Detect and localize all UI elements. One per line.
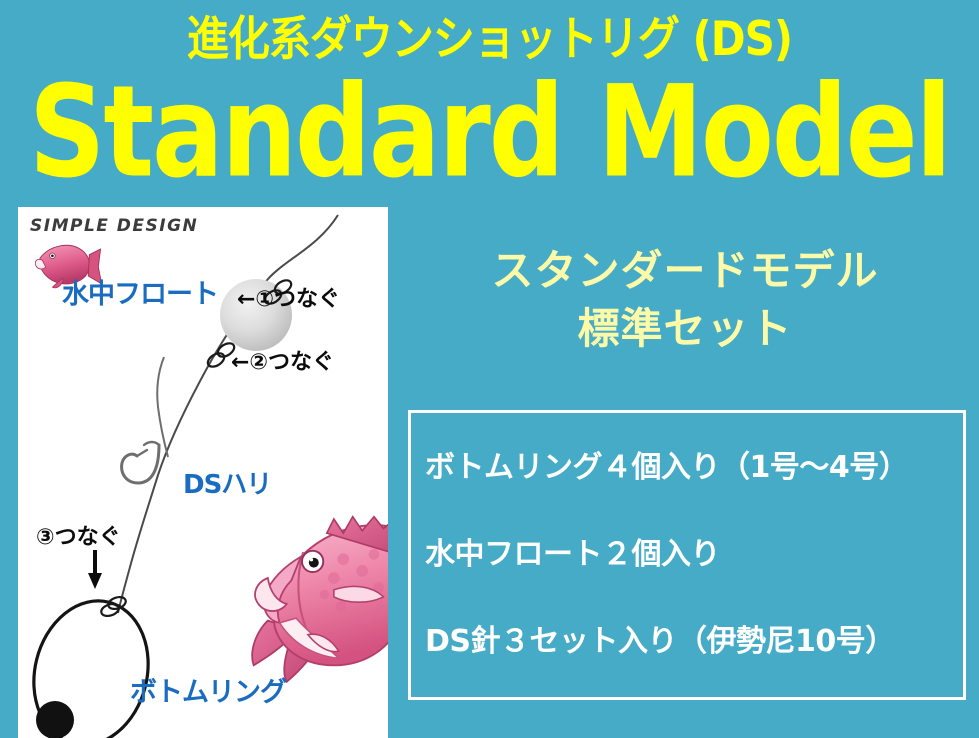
header-title: Standard Model	[0, 68, 979, 195]
right-column: スタンダードモデル 標準セット ボトムリング４個入り（1号～4号） 水中フロート…	[400, 207, 979, 738]
step-1-callout: ←①つなぐ	[237, 289, 340, 311]
step-2-callout: ←②つなぐ	[231, 352, 334, 374]
model-name-block: スタンダードモデル 標準セット	[400, 242, 970, 358]
model-name-line-1: スタンダードモデル	[400, 242, 970, 300]
step3-arrow-icon	[88, 550, 102, 589]
connector-ring-3	[100, 595, 128, 618]
spec-item-bottom-ring: ボトムリング４個入り（1号～4号）	[425, 453, 963, 483]
ds-hook-icon	[122, 442, 159, 483]
rig-diagram-panel: SIMPLE DESIGN 水中フロート DSハリ ボトムリング ←①つなぐ ←…	[18, 207, 388, 738]
spec-list: ボトムリング４個入り（1号～4号） 水中フロート２個入り DS針３セット入り（伊…	[411, 413, 963, 697]
sea-bream-illustration	[252, 517, 388, 682]
step-3-callout: ③つなぐ	[36, 527, 121, 549]
simple-design-badge: SIMPLE DESIGN	[30, 216, 198, 236]
label-bottom-ring: ボトムリング	[130, 679, 286, 706]
spec-item-underwater-float: 水中フロート２個入り	[425, 540, 963, 570]
poster-header: 進化系ダウンショットリグ (DS) Standard Model	[0, 0, 979, 195]
spec-box: ボトムリング４個入り（1号～4号） 水中フロート２個入り DS針３セット入り（伊…	[408, 410, 966, 700]
label-ds-hook: DSハリ	[183, 472, 271, 498]
header-subtitle: 進化系ダウンショットリグ (DS)	[0, 16, 979, 63]
weight-ball-icon	[36, 701, 74, 738]
model-name-line-2: 標準セット	[400, 300, 970, 358]
spec-item-ds-hook: DS針３セット入り（伊勢尼10号）	[425, 627, 963, 657]
product-poster: 進化系ダウンショットリグ (DS) Standard Model	[0, 0, 979, 738]
label-underwater-float: 水中フロート	[62, 281, 218, 308]
hook-branch-line	[157, 357, 168, 457]
